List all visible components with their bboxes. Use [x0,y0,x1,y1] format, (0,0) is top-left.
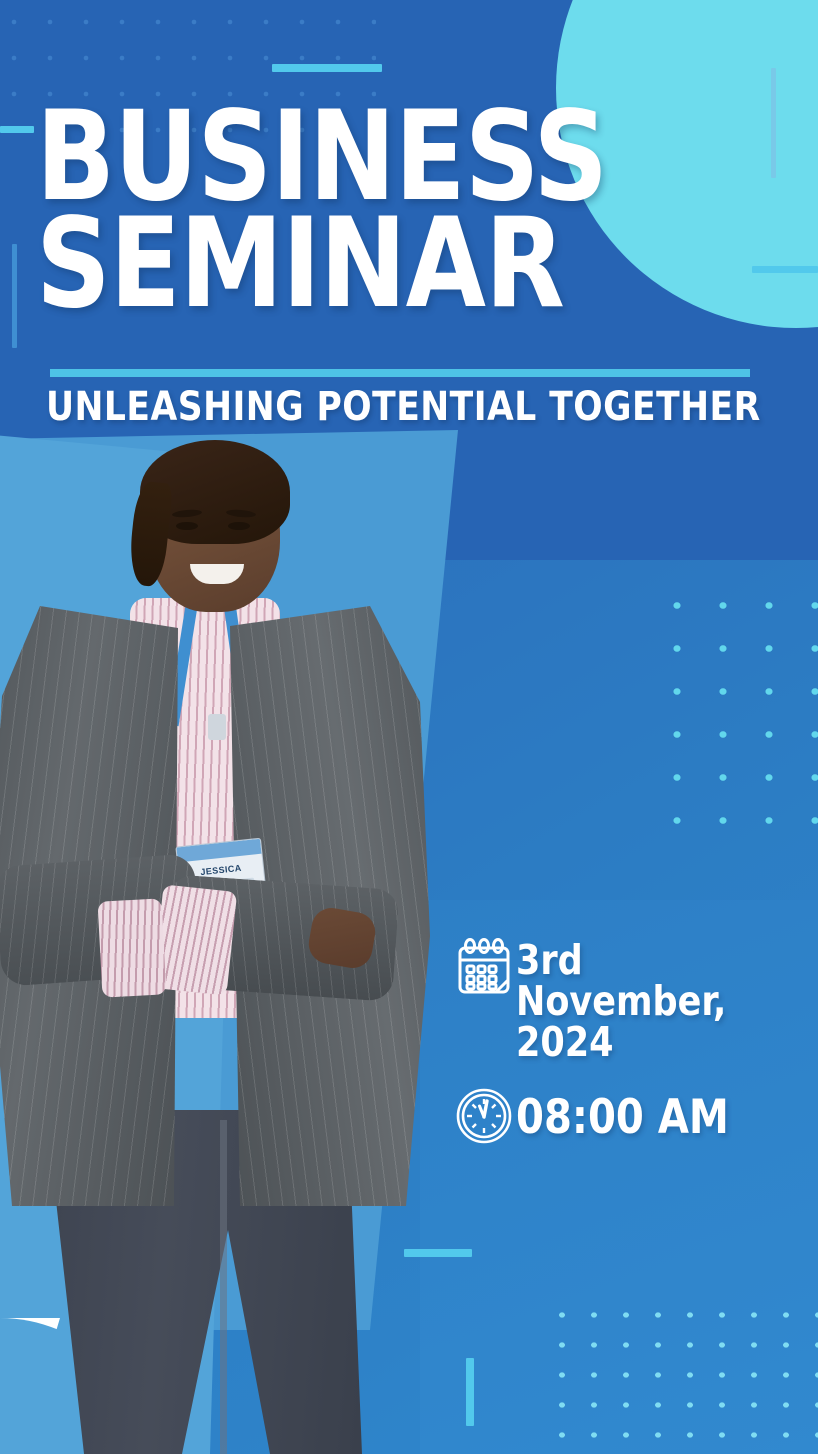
title-line-2: SEMINAR [36,211,743,318]
trouser-seam [220,1120,227,1454]
event-poster: BUSINESS SEMINAR UNLEASHING POTENTIAL TO… [0,0,818,1454]
accent-bar-vertical-left [12,244,17,348]
shirt-cuff-right [98,898,167,997]
eye-right [228,522,250,530]
event-details: 3rd November, 2024 [452,938,802,1169]
clock-icon [452,1087,516,1145]
calendar-icon [452,938,516,998]
speaker-photo: JESSICA [0,430,480,1454]
page-title: BUSINESS SEMINAR [36,104,796,317]
event-time-text: 08:00 AM [516,1092,729,1141]
dot-grid-bottom-right [546,1300,818,1454]
event-date-text: 3rd November, 2024 [516,938,788,1063]
dot-grid-middle-right [654,584,818,834]
eye-left [176,522,198,530]
event-date-row: 3rd November, 2024 [452,938,802,1063]
title-divider [50,369,750,377]
subtitle: UNLEASHING POTENTIAL TOGETHER [46,384,761,430]
event-time-row: 08:00 AM [452,1087,802,1145]
accent-bar-top [272,64,382,72]
accent-bar-left-short [0,126,34,133]
badge-clip [208,714,226,740]
